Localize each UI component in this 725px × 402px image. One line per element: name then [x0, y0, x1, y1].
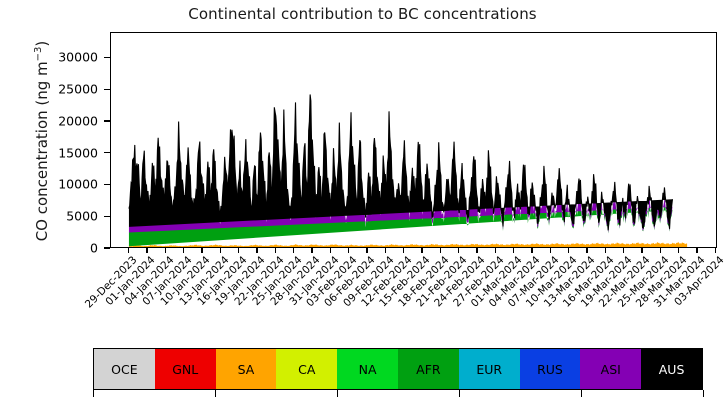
- x-tick-mark: [256, 248, 257, 253]
- x-tick-mark: [201, 248, 202, 253]
- y-tick-label: 15000: [58, 145, 98, 160]
- x-tick-mark: [678, 248, 679, 253]
- legend-tick-mark: [93, 390, 94, 397]
- x-tick-mark: [440, 248, 441, 253]
- legend-item-na[interactable]: NA: [337, 349, 398, 389]
- x-tick-mark: [183, 248, 184, 253]
- legend-item-ca[interactable]: CA: [276, 349, 337, 389]
- x-tick-mark: [403, 248, 404, 253]
- legend-tick-mark: [215, 390, 216, 397]
- x-tick-mark: [550, 248, 551, 253]
- x-tick-mark: [660, 248, 661, 253]
- x-tick-mark: [513, 248, 514, 253]
- x-tick-mark: [330, 248, 331, 253]
- x-tick-mark: [458, 248, 459, 253]
- x-tick-mark: [715, 248, 716, 253]
- legend-item-oce[interactable]: OCE: [94, 349, 155, 389]
- plot-area: [110, 32, 717, 248]
- x-tick-mark: [366, 248, 367, 253]
- x-tick-mark: [275, 248, 276, 253]
- x-tick-mark: [293, 248, 294, 253]
- stacked-area-plot: [111, 33, 716, 247]
- legend-item-eur[interactable]: EUR: [459, 349, 520, 389]
- x-tick-mark: [495, 248, 496, 253]
- legend-tick-mark: [459, 390, 460, 397]
- x-tick-mark: [696, 248, 697, 253]
- x-tick-mark: [623, 248, 624, 253]
- x-tick-mark: [220, 248, 221, 253]
- area-series-sa: [129, 242, 687, 247]
- chart-title: Continental contribution to BC concentra…: [0, 5, 725, 23]
- y-tick-label: 5000: [66, 209, 98, 224]
- legend-item-asi[interactable]: ASI: [580, 349, 641, 389]
- y-tick-label: 25000: [58, 82, 98, 97]
- chart-figure: Continental contribution to BC concentra…: [0, 0, 725, 402]
- y-tick-label: 20000: [58, 113, 98, 128]
- y-tick-label: 30000: [58, 50, 98, 65]
- x-tick-mark: [146, 248, 147, 253]
- legend-tick-mark: [581, 390, 582, 397]
- y-tick-label: 0: [90, 241, 98, 256]
- legend-tick-mark: [337, 390, 338, 397]
- legend-item-gnl[interactable]: GNL: [155, 349, 216, 389]
- legend-tick-mark: [703, 390, 704, 397]
- x-tick-mark: [348, 248, 349, 253]
- x-tick-mark: [586, 248, 587, 253]
- x-tick-mark: [476, 248, 477, 253]
- x-tick-mark: [421, 248, 422, 253]
- x-tick-mark: [311, 248, 312, 253]
- x-tick-mark: [128, 248, 129, 253]
- legend-item-afr[interactable]: AFR: [398, 349, 459, 389]
- y-axis-tick-labels: 050001000015000200002500030000: [0, 0, 102, 402]
- x-tick-mark: [568, 248, 569, 253]
- x-tick-mark: [385, 248, 386, 253]
- legend-item-aus[interactable]: AUS: [641, 349, 702, 389]
- legend-colorbar[interactable]: OCEGNLSACANAAFREURRUSASIAUS: [93, 348, 703, 390]
- legend-item-sa[interactable]: SA: [216, 349, 277, 389]
- legend-item-rus[interactable]: RUS: [520, 349, 581, 389]
- x-tick-mark: [531, 248, 532, 253]
- x-tick-mark: [238, 248, 239, 253]
- y-tick-label: 10000: [58, 177, 98, 192]
- x-tick-mark: [641, 248, 642, 253]
- x-tick-mark: [165, 248, 166, 253]
- x-tick-mark: [605, 248, 606, 253]
- legend-colorbar-ticks: [93, 390, 703, 398]
